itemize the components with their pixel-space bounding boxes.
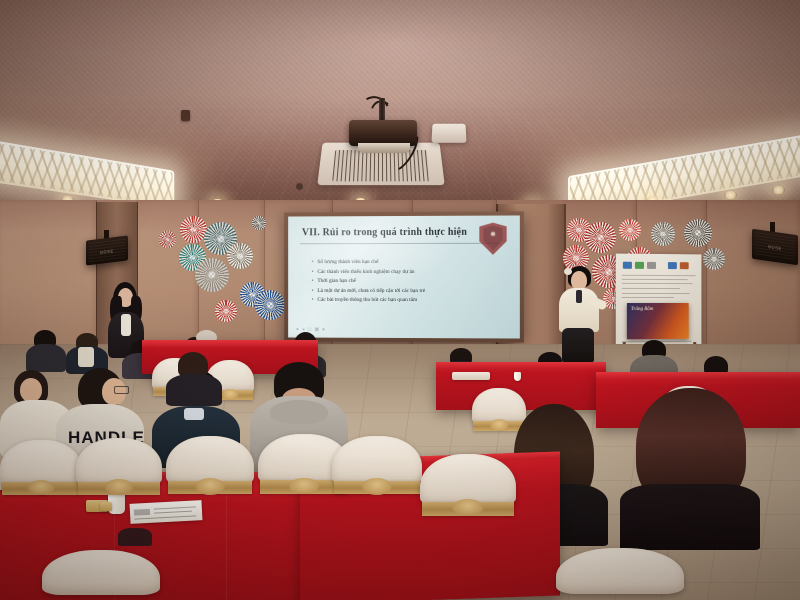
banquet-chair[interactable] <box>556 548 684 600</box>
downlight <box>772 186 785 194</box>
snack-tray <box>452 372 490 380</box>
paper-fan-decoration <box>255 290 285 320</box>
conference-room-photo: BOSE BOSE VII. Rủi ro trong quá trình th… <box>0 0 800 600</box>
audience-member <box>166 352 222 404</box>
banquet-chair[interactable] <box>420 454 516 526</box>
paper-fan-decoration <box>585 222 616 253</box>
poster-logo <box>623 262 632 269</box>
downlight <box>724 191 737 199</box>
paper-fan-decoration <box>703 248 725 270</box>
paper-fan-decoration <box>227 243 253 269</box>
poster-logo <box>680 262 689 269</box>
audience-member <box>620 388 760 548</box>
banquet-chair[interactable] <box>332 436 422 504</box>
event-poster: Trăng Rằm <box>627 303 689 339</box>
smoke-detector <box>296 183 303 190</box>
microphone <box>576 290 582 303</box>
banquet-chair[interactable] <box>0 440 82 504</box>
poster-title: Trăng Rằm <box>631 307 653 312</box>
paper-fan-decoration <box>651 222 675 246</box>
ceiling-vent-small <box>432 124 467 143</box>
hoodie-hood <box>270 400 328 424</box>
paper-fan-decoration <box>195 258 229 292</box>
paper-fan-decoration <box>215 300 237 322</box>
ceiling <box>0 0 800 215</box>
paper-fan-decoration <box>180 216 207 243</box>
wall-speaker-left: BOSE <box>86 235 128 265</box>
projected-slide: VII. Rủi ro trong quá trình thực hiện ✷ … <box>288 215 520 338</box>
flipchart-poster-sheet: Trăng Rằm <box>616 254 702 347</box>
banquet-chair[interactable] <box>76 438 162 504</box>
audience-member <box>26 330 66 370</box>
banquet-chair[interactable] <box>166 436 254 504</box>
poster-logo <box>668 262 677 269</box>
poster-logo <box>647 262 656 269</box>
projector-lens <box>358 143 410 153</box>
paper-fan-decoration <box>252 216 266 230</box>
paper-fan-decoration <box>684 219 712 247</box>
poster-logo <box>635 262 644 269</box>
eyeglasses <box>114 386 129 394</box>
paper-fan-decoration <box>159 231 176 248</box>
projection-screen: VII. Rủi ro trong quá trình thực hiện ✷ … <box>284 211 524 342</box>
bag-strap <box>118 528 152 546</box>
banquet-chair[interactable] <box>42 550 160 600</box>
sprinkler-head <box>181 110 190 121</box>
paper-cup <box>514 372 521 381</box>
hair-clip <box>564 268 572 275</box>
paper-fan-decoration <box>619 219 641 241</box>
audience-member <box>66 333 108 373</box>
presenter-with-microphone <box>556 266 604 362</box>
projector-mount-pole <box>379 98 385 122</box>
wall-speaker-right: BOSE <box>752 229 798 265</box>
